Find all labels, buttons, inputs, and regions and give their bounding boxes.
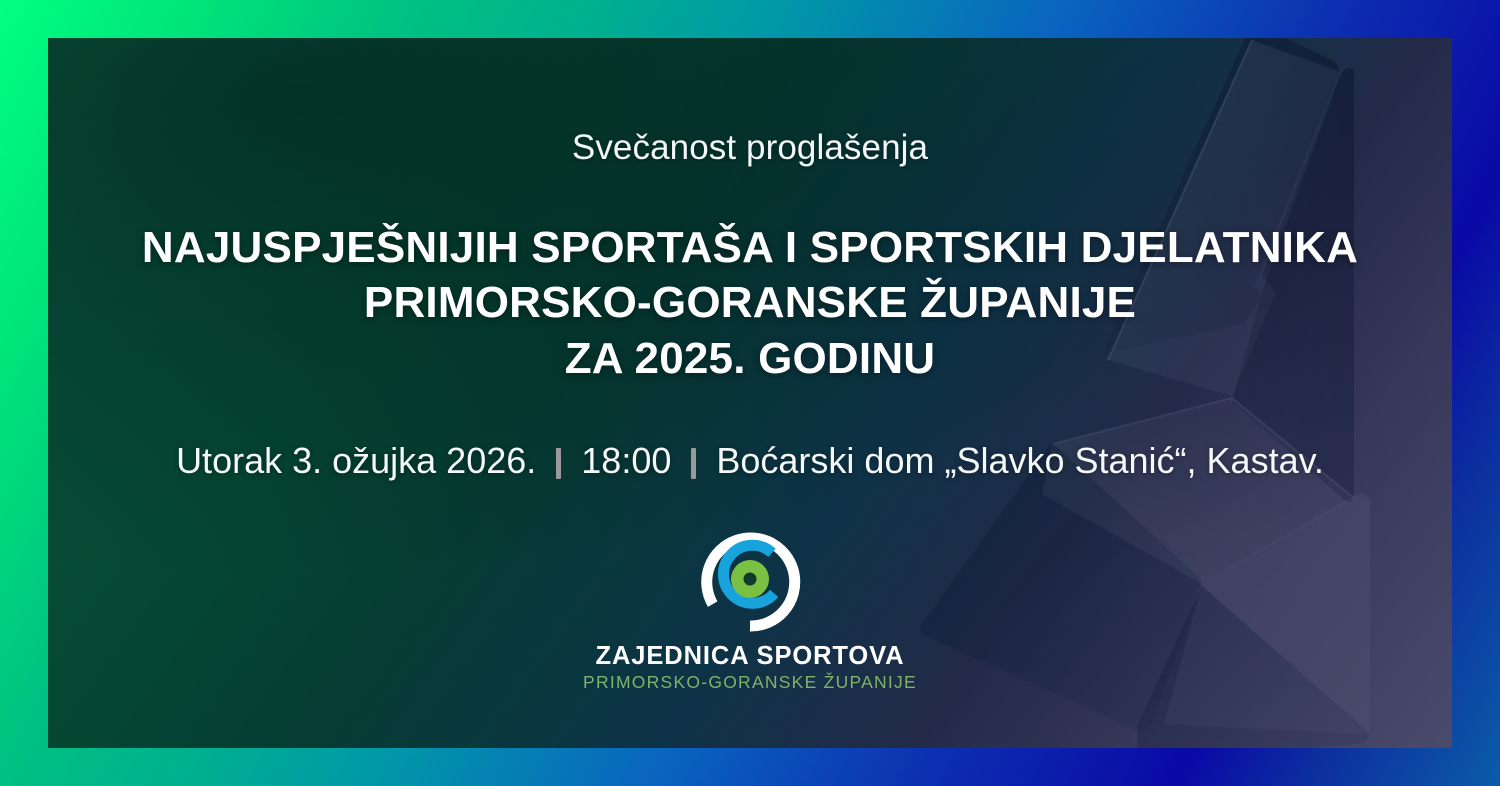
detail-separator-icon	[691, 448, 696, 479]
headline-line-3: ZA 2025. GODINU	[48, 331, 1452, 386]
organization-logo: ZAJEDNICA SPORTOVA PRIMORSKO-GORANSKE ŽU…	[48, 526, 1452, 693]
poster-canvas: Svečanost proglašenja NAJUSPJEŠNIJIH SPO…	[0, 0, 1500, 786]
detail-separator-icon	[556, 448, 561, 479]
headline-line-1: NAJUSPJEŠNIJIH SPORTAŠA I SPORTSKIH DJEL…	[48, 220, 1452, 275]
event-venue: Boćarski dom „Slavko Stanić“, Kastav.	[716, 440, 1324, 482]
event-time: 18:00	[581, 440, 671, 482]
poster-kicker: Svečanost proglašenja	[48, 128, 1452, 168]
event-details: Utorak 3. ožujka 2026. 18:00 Boćarski do…	[48, 440, 1452, 482]
concentric-rings-logo-icon	[694, 526, 806, 638]
poster-headline: NAJUSPJEŠNIJIH SPORTAŠA I SPORTSKIH DJEL…	[48, 220, 1452, 386]
poster-content: Svečanost proglašenja NAJUSPJEŠNIJIH SPO…	[48, 38, 1452, 748]
headline-line-2: PRIMORSKO-GORANSKE ŽUPANIJE	[48, 275, 1452, 330]
logo-organization-name: ZAJEDNICA SPORTOVA	[595, 642, 904, 671]
poster-inner-panel: Svečanost proglašenja NAJUSPJEŠNIJIH SPO…	[48, 38, 1452, 748]
logo-organization-subtitle: PRIMORSKO-GORANSKE ŽUPANIJE	[583, 672, 917, 693]
event-date: Utorak 3. ožujka 2026.	[176, 440, 536, 482]
